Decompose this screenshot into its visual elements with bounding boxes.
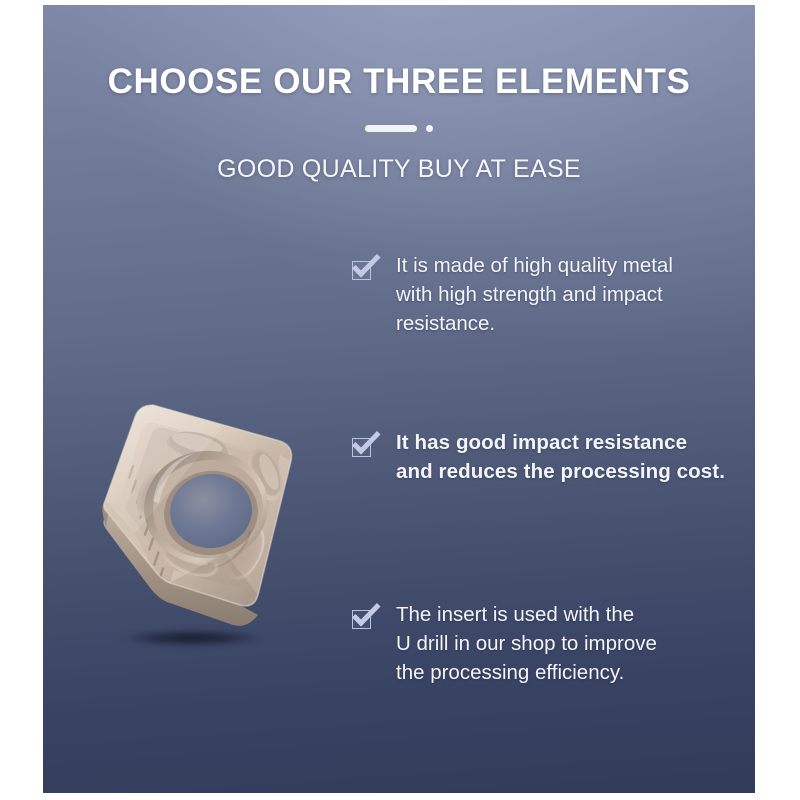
list-item: It has good impact resistance and reduce… <box>352 428 725 486</box>
carbide-trigon-insert-icon <box>75 383 305 641</box>
page-subtitle: GOOD QUALITY BUY AT EASE <box>43 155 755 184</box>
checkbox-checked-icon <box>352 434 376 458</box>
divider-dot-icon <box>426 125 433 132</box>
divider-bar-icon <box>365 125 417 132</box>
product-image <box>75 383 305 658</box>
list-item-label: It has good impact resistance and reduce… <box>396 428 725 486</box>
checkbox-checked-icon <box>352 257 376 281</box>
title-divider <box>43 123 755 133</box>
checkbox-checked-icon <box>352 606 376 630</box>
list-item: The insert is used with the U drill in o… <box>352 600 657 687</box>
list-item-label: It is made of high quality metal with hi… <box>396 251 673 338</box>
list-item-label: The insert is used with the U drill in o… <box>396 600 657 687</box>
image-frame: CHOOSE OUR THREE ELEMENTS GOOD QUALITY B… <box>0 0 800 800</box>
page-title: CHOOSE OUR THREE ELEMENTS <box>43 62 755 102</box>
list-item: It is made of high quality metal with hi… <box>352 251 673 338</box>
promo-banner: CHOOSE OUR THREE ELEMENTS GOOD QUALITY B… <box>43 5 755 793</box>
